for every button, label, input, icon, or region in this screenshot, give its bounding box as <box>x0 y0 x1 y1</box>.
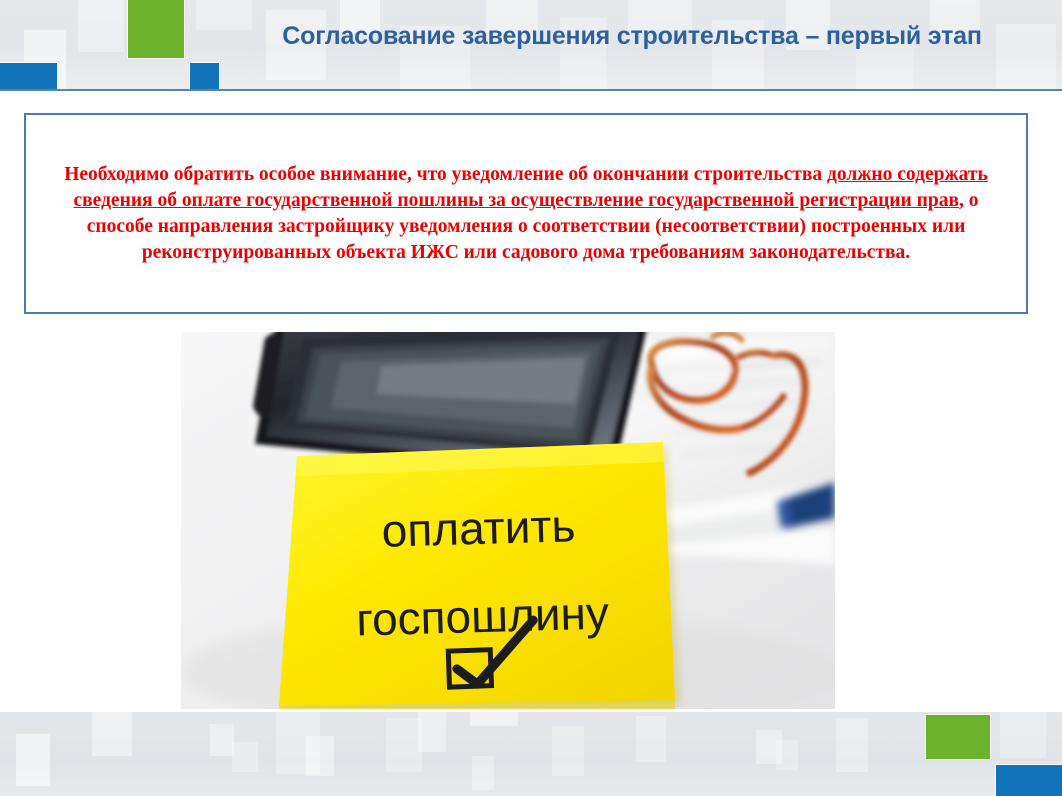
decor-square-green-header <box>128 0 184 58</box>
callout-segment-1: Необходимо обратить особое внимание, что… <box>64 164 827 185</box>
header-band: Согласование завершения строительства – … <box>0 0 1062 91</box>
sticky-note <box>279 442 681 709</box>
illustration-photo: оплатить госпошлину <box>181 332 835 709</box>
photo-sticky-note-pay-state-duty: оплатить госпошлину <box>181 332 835 709</box>
decor-square-blue-header-mid <box>190 63 219 91</box>
slide: Согласование завершения строительства – … <box>0 0 1062 796</box>
decor-square-blue-footer <box>996 765 1062 796</box>
svg-text:госпошлину: госпошлину <box>356 586 610 645</box>
decor-square-green-footer <box>926 715 990 759</box>
footer-band <box>0 712 1062 796</box>
page-title: Согласование завершения строительства – … <box>218 22 1046 51</box>
header-divider-rule <box>0 89 1062 91</box>
callout-box: Необходимо обратить особое внимание, что… <box>24 113 1028 314</box>
decor-square-blue-header-left <box>0 63 57 91</box>
callout-text: Необходимо обратить особое внимание, что… <box>40 162 1012 266</box>
svg-text:оплатить: оплатить <box>381 499 576 556</box>
